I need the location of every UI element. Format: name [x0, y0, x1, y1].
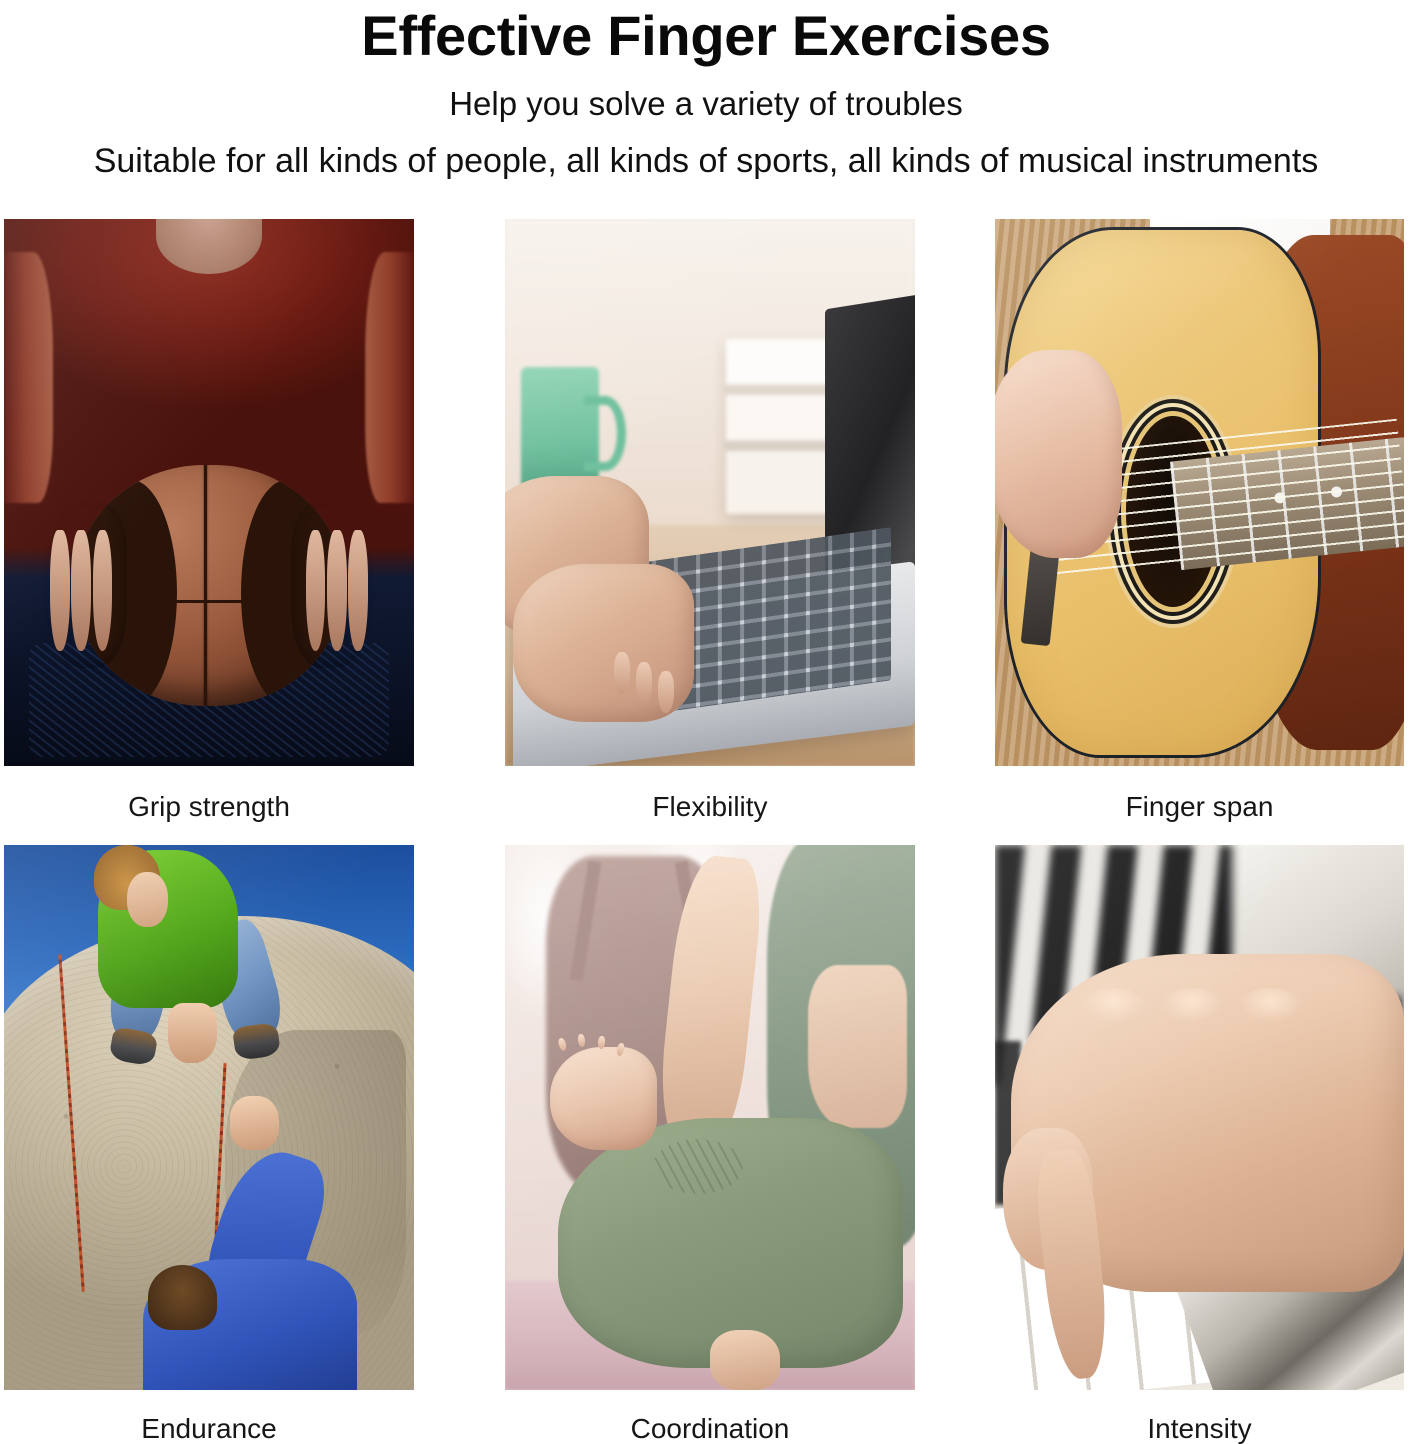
feature-caption: Coordination — [505, 1412, 915, 1444]
finger-shape — [614, 652, 630, 693]
page-subtitle: Help you solve a variety of troubles — [0, 80, 1412, 128]
feature-cell-grip-strength: Grip strength — [4, 219, 414, 845]
left-hand-shape — [45, 503, 127, 667]
laptop-typing-photo — [505, 219, 915, 766]
basketball-grip-photo — [4, 219, 414, 766]
feature-cell-intensity: Intensity — [995, 845, 1404, 1443]
finger-shape — [636, 662, 652, 703]
feature-row: Endurance — [4, 845, 1404, 1443]
reaching-hand-lower — [230, 1096, 279, 1151]
feature-row: Grip strength — [4, 219, 1404, 845]
right-arm-shape — [365, 252, 414, 504]
upper-climber-face — [127, 872, 168, 927]
finger-shape — [71, 530, 91, 651]
feature-caption: Intensity — [995, 1412, 1404, 1444]
page-tagline: Suitable for all kinds of people, all ki… — [0, 137, 1412, 185]
feature-cell-endurance: Endurance — [4, 845, 414, 1443]
finger-shape — [598, 1036, 606, 1050]
finger-shape — [50, 530, 70, 651]
finger-shape — [93, 530, 113, 651]
knuckle-highlight — [1082, 988, 1145, 1022]
product-infographic-page: Effective Finger Exercises Help you solv… — [0, 0, 1412, 1444]
strumming-hand-shape — [995, 350, 1122, 558]
feature-cell-flexibility: Flexibility — [505, 219, 915, 845]
rock-climbing-photo — [4, 845, 414, 1390]
mudra-hand-shape — [550, 1047, 657, 1151]
fabric-folds — [653, 1139, 743, 1194]
page-title: Effective Finger Exercises — [0, 2, 1412, 70]
feature-caption: Finger span — [995, 790, 1404, 824]
feature-cell-finger-span: Finger span — [995, 219, 1404, 845]
feature-cell-coordination: Coordination — [505, 845, 915, 1443]
finger-shape — [658, 671, 674, 712]
yoga-meditation-photo — [505, 845, 915, 1390]
knuckle-highlight — [1161, 988, 1224, 1022]
right-hand-shape — [291, 503, 373, 667]
header: Effective Finger Exercises Help you solv… — [0, 0, 1412, 185]
bare-foot-shape — [710, 1330, 780, 1390]
lower-hand-shape — [513, 564, 693, 723]
knuckle-highlight — [1239, 988, 1302, 1022]
left-arm-shape — [4, 252, 53, 504]
piano-playing-photo — [995, 845, 1404, 1390]
reaching-hand-upper — [168, 1003, 217, 1063]
feature-caption: Grip strength — [4, 790, 414, 824]
feature-caption: Endurance — [4, 1412, 414, 1444]
feature-caption: Flexibility — [505, 790, 915, 824]
finger-shape — [306, 530, 326, 651]
midriff-skin-shape — [808, 965, 906, 1129]
finger-shape — [327, 530, 347, 651]
feature-grid: Grip strength — [4, 219, 1404, 1443]
acoustic-guitar-photo — [995, 219, 1404, 766]
ball-seam-vertical — [204, 465, 207, 706]
lower-climber-hair — [148, 1265, 218, 1330]
finger-shape — [348, 530, 368, 651]
